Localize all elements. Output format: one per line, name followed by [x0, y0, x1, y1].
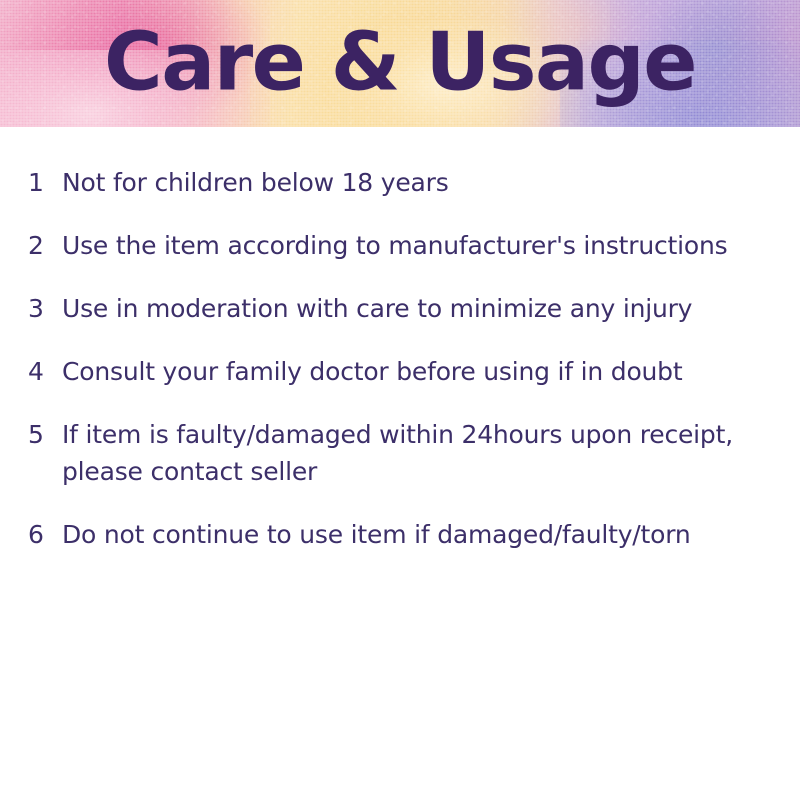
watercolor-banner: Care & Usage — [0, 0, 800, 127]
list-item-text: Do not continue to use item if damaged/f… — [62, 516, 780, 553]
list-item-number: 6 — [28, 516, 62, 553]
list-item-text: Use the item according to manufacturer's… — [62, 227, 780, 264]
page-title: Care & Usage — [0, 22, 800, 102]
list-item-text: Not for children below 18 years — [62, 164, 780, 201]
list-item-number: 5 — [28, 416, 62, 453]
list-item-text: Use in moderation with care to minimize … — [62, 290, 780, 327]
list-item-text: Consult your family doctor before using … — [62, 353, 780, 390]
list-item: 4 Consult your family doctor before usin… — [0, 353, 800, 390]
list-item-number: 4 — [28, 353, 62, 390]
list-item-text: If item is faulty/damaged within 24hours… — [62, 416, 780, 490]
list-item-number: 3 — [28, 290, 62, 327]
care-and-usage-page: Care & Usage 1 Not for children below 18… — [0, 0, 800, 800]
list-item: 2 Use the item according to manufacturer… — [0, 227, 800, 264]
list-item-number: 2 — [28, 227, 62, 264]
care-usage-list: 1 Not for children below 18 years 2 Use … — [0, 127, 800, 579]
list-item: 3 Use in moderation with care to minimiz… — [0, 290, 800, 327]
list-item: 6 Do not continue to use item if damaged… — [0, 516, 800, 553]
list-item: 1 Not for children below 18 years — [0, 164, 800, 201]
list-item: 5 If item is faulty/damaged within 24hou… — [0, 416, 800, 490]
list-item-number: 1 — [28, 164, 62, 201]
